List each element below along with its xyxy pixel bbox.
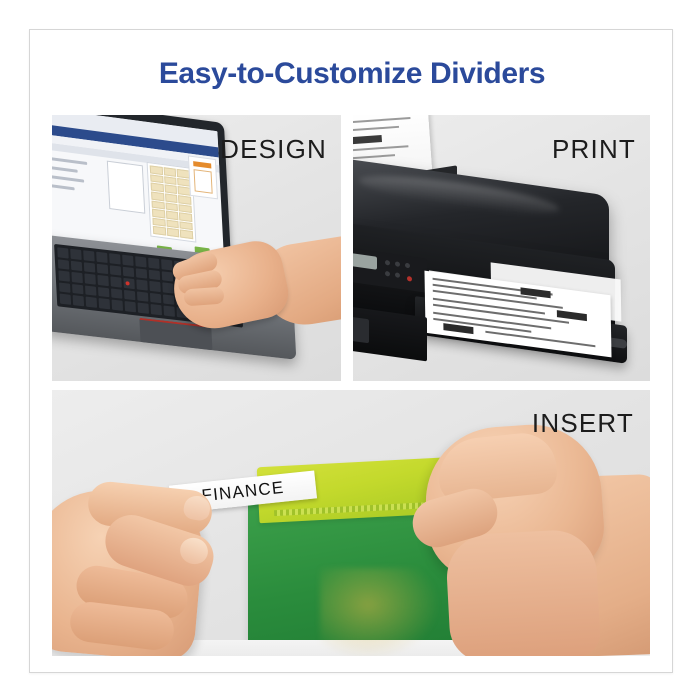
product-card: Easy-to-Customize Dividers (29, 29, 673, 673)
printer-lcd-display (353, 253, 377, 270)
panel-label-print: PRINT (552, 134, 636, 165)
printer-cartridge-door (353, 317, 369, 344)
product-image-canvas: Easy-to-Customize Dividers (0, 0, 700, 700)
app-form-fields (52, 157, 106, 227)
panel-design: DESIGN (52, 115, 341, 381)
finger (183, 287, 224, 307)
hand-icon-right (404, 420, 650, 656)
panel-label-insert: INSERT (532, 408, 634, 439)
hand-icon-typing (152, 235, 341, 365)
panel-label-design: DESIGN (220, 134, 327, 165)
laptop-trackpoint (125, 281, 129, 285)
hand-lower-right (445, 528, 601, 656)
app-thumbnail-panel (188, 155, 218, 199)
lid-highlight (359, 169, 559, 221)
hand-icon-left (52, 460, 242, 656)
app-preview-box (107, 161, 145, 214)
page-title: Easy-to-Customize Dividers (30, 56, 674, 92)
panel-insert: FINANCE (52, 390, 650, 656)
panel-print: PRINT (353, 115, 650, 381)
